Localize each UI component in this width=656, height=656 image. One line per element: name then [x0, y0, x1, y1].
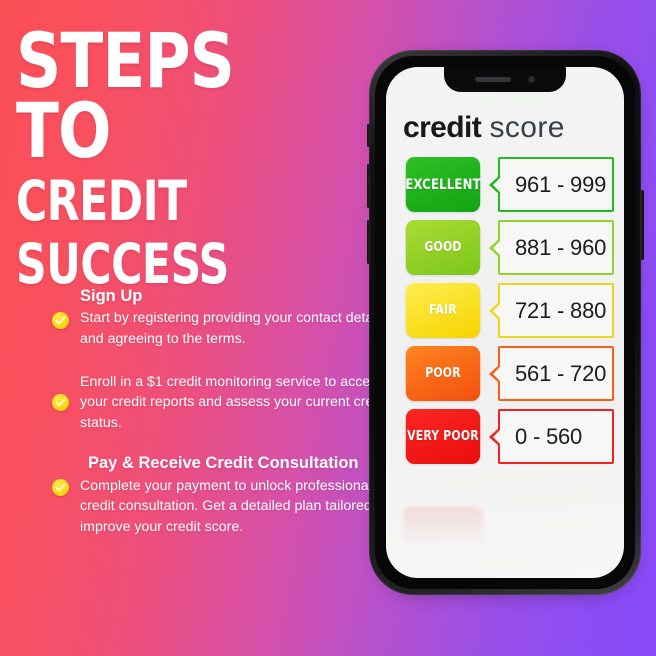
score-tag-excellent: EXCELLENT: [406, 157, 480, 212]
score-tag-label: EXCELLENT: [405, 177, 481, 193]
check-circle-icon: [52, 394, 69, 411]
credit-score-poster: STEPS TO CREDIT SUCCESS Sign Up Start by…: [0, 0, 656, 656]
score-tag-poor: POOR: [406, 346, 480, 401]
screen-title: credit score: [403, 113, 624, 143]
score-range-value: 961 - 999: [515, 172, 606, 198]
score-tag-label: GOOD: [424, 240, 461, 255]
step-title: Sign Up: [80, 286, 392, 307]
score-range-bubble-good: 881 - 960: [498, 220, 614, 275]
credit-score-rows: EXCELLENT 961 - 999 GOOD 881 - 960: [386, 157, 624, 464]
check-circle-icon: [52, 479, 69, 496]
step-item: Sign Up Start by registering providing y…: [52, 286, 392, 350]
score-range-bubble-fair: 721 - 880: [498, 283, 614, 338]
steps-list: Sign Up Start by registering providing y…: [52, 286, 392, 552]
check-circle-icon: [52, 312, 69, 329]
speaker-grille-icon: [475, 77, 511, 82]
score-row-poor[interactable]: POOR 561 - 720: [403, 346, 614, 401]
score-range-value: 561 - 720: [515, 361, 606, 387]
score-tag-very-poor: VERY POOR: [406, 409, 480, 464]
power-button[interactable]: [640, 190, 644, 260]
headline-block: STEPS TO CREDIT SUCCESS: [16, 26, 376, 292]
phone-frame: credit score EXCELLENT 961 - 999: [369, 50, 641, 595]
screen-title-light: score: [489, 111, 564, 144]
phone-notch: [444, 67, 566, 92]
score-range-bubble-poor: 561 - 720: [498, 346, 614, 401]
front-camera-icon: [528, 76, 535, 83]
score-row-good[interactable]: GOOD 881 - 960: [403, 220, 614, 275]
screen-title-bold: credit: [403, 111, 481, 144]
step-body: Complete your payment to unlock professi…: [80, 476, 392, 538]
phone-screen: credit score EXCELLENT 961 - 999: [386, 67, 624, 578]
volume-down-button[interactable]: [367, 220, 371, 264]
score-tag-label: VERY POOR: [407, 429, 479, 444]
step-body: Enroll in a $1 credit monitoring service…: [80, 372, 392, 434]
score-row-excellent[interactable]: EXCELLENT 961 - 999: [403, 157, 614, 212]
headline-line-2: CREDIT: [16, 175, 326, 229]
score-tag-fair: FAIR: [406, 283, 480, 338]
step-item: Pay & Receive Credit Consultation Comple…: [52, 453, 392, 537]
score-tag-good: GOOD: [406, 220, 480, 275]
screen-reflection: [403, 507, 483, 547]
headline-line-3: SUCCESS: [16, 238, 326, 292]
step-body: Start by registering providing your cont…: [80, 308, 392, 349]
score-row-very-poor[interactable]: VERY POOR 0 - 560: [403, 409, 614, 464]
score-range-bubble-very-poor: 0 - 560: [498, 409, 614, 464]
score-tag-label: FAIR: [429, 303, 457, 318]
phone-bezel: credit score EXCELLENT 961 - 999: [375, 56, 635, 589]
step-title: Pay & Receive Credit Consultation: [80, 453, 392, 474]
score-row-fair[interactable]: FAIR 721 - 880: [403, 283, 614, 338]
volume-up-button[interactable]: [367, 164, 371, 208]
headline-line-1: STEPS TO: [16, 26, 347, 166]
step-item: Enroll in a $1 credit monitoring service…: [52, 372, 392, 434]
score-tag-label: POOR: [425, 366, 461, 381]
score-range-bubble-excellent: 961 - 999: [498, 157, 614, 212]
phone-mockup: credit score EXCELLENT 961 - 999: [369, 50, 641, 595]
score-range-value: 0 - 560: [515, 424, 582, 450]
mute-switch-button[interactable]: [367, 124, 370, 147]
score-range-value: 881 - 960: [515, 235, 606, 261]
score-range-value: 721 - 880: [515, 298, 606, 324]
